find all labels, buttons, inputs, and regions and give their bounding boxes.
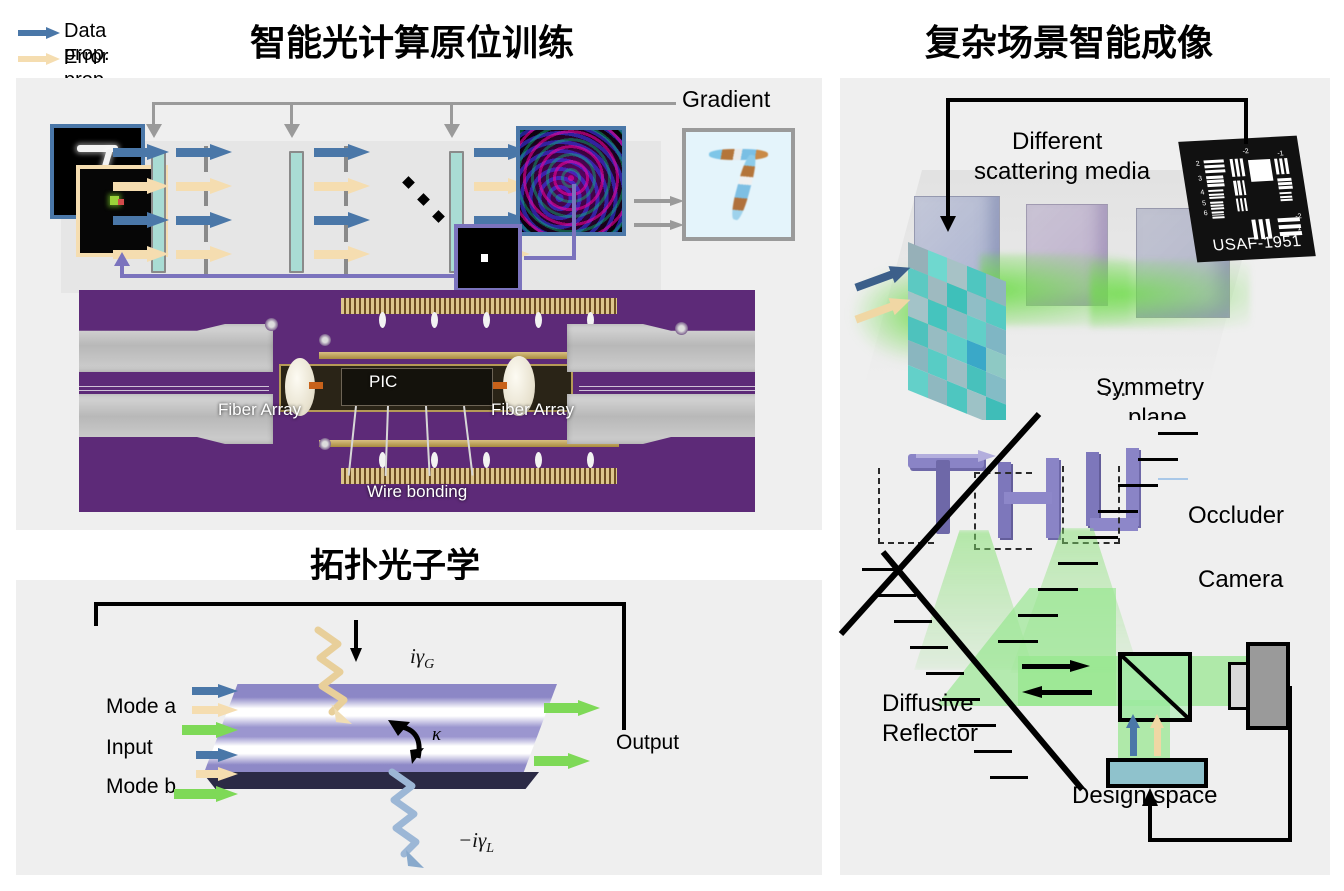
gradient-arrow-1	[146, 124, 162, 138]
error-prop-arrow	[176, 246, 234, 263]
panel-insitu-training: Gradient	[16, 78, 822, 530]
data-prop-arrow	[176, 144, 234, 161]
imaging-feedback-line	[946, 98, 1246, 102]
gain-zigzag-icon	[312, 624, 392, 734]
label-input: Input	[106, 737, 153, 758]
feedback-line-h1	[524, 256, 576, 260]
to-gradient-arrow-1	[634, 196, 686, 206]
occluder-hatch	[1078, 536, 1118, 539]
gradient-bus-line	[152, 102, 676, 105]
reflector-hatch	[910, 646, 948, 649]
usaf-group-number: 5	[1202, 200, 1207, 207]
occluder-hatch	[1018, 614, 1058, 617]
label-diffusive-line1: Diffusive	[882, 692, 974, 716]
usaf-group-number: 6	[1203, 210, 1208, 217]
usaf-1951-target: 2 3 4 5 6 -2 -1 -2 1 USAF-1951	[1178, 136, 1316, 263]
arrow-right-icon	[18, 27, 62, 39]
data-prop-arrow	[113, 212, 171, 229]
occluder-hatch	[998, 640, 1038, 643]
pad-dot	[483, 312, 490, 328]
to-gradient-arrow-2	[634, 220, 686, 230]
label-pic: PIC	[369, 372, 397, 392]
optical-layer-2	[289, 151, 304, 273]
screw-hole	[675, 322, 688, 335]
error-prop-arrow	[192, 703, 240, 717]
usaf-white-square	[1248, 159, 1274, 182]
occluder-hatch	[1038, 588, 1078, 591]
label-coupling-kappa: κ	[432, 724, 441, 746]
label-scattering-line2: scattering media	[974, 160, 1150, 184]
panel-optical-setup: Occluder Camera Diffusive Reflector Desi…	[840, 420, 1330, 875]
reflector-hatch	[894, 620, 932, 623]
label-wire-bonding: Wire bonding	[367, 482, 467, 502]
pad-dot	[431, 312, 438, 328]
optical-signal-arrow	[182, 722, 240, 738]
label-fiber-array-right: Fiber Array	[491, 400, 574, 420]
loss-zigzag-icon	[382, 766, 462, 882]
optical-signal-arrow	[174, 786, 240, 802]
label-camera: Camera	[1198, 568, 1283, 592]
feedback-line-up	[120, 264, 124, 278]
setup-feedback-up	[1148, 804, 1152, 842]
letters-motion-arrow	[916, 450, 1000, 462]
occluder-hatch	[1138, 458, 1178, 461]
gradient-result-image	[682, 128, 795, 241]
screw-hole	[265, 318, 278, 331]
usaf-group-number: 3	[1198, 175, 1203, 182]
label-mode-a: Mode a	[106, 696, 176, 717]
feedback-pattern-image	[454, 224, 522, 292]
usaf-corner-label: 1	[1297, 225, 1302, 232]
panel-topological-photonics: Mode a Input Mode b Output	[16, 580, 822, 875]
error-prop-arrow	[314, 178, 372, 195]
data-prop-arrow	[1126, 714, 1140, 756]
label-design-space: Design space	[1072, 784, 1217, 808]
usaf-corner-label: -1	[1277, 150, 1284, 157]
usaf-bar-group-right	[1274, 158, 1304, 207]
error-prop-arrow	[113, 178, 171, 195]
reflector-hatch	[974, 750, 1012, 753]
data-prop-arrow	[176, 212, 234, 229]
pic-die	[341, 368, 493, 406]
label-gain-coefficient: iγG	[410, 644, 434, 673]
occluder-marker	[1158, 478, 1188, 480]
pad-dot	[535, 452, 542, 468]
gradient-label: Gradient	[682, 88, 770, 111]
fiber-array-block-left-top	[79, 324, 273, 372]
legend: Data prop. Error prop.	[18, 20, 198, 76]
fiber-array-block-right-top	[567, 324, 755, 372]
pad-dot	[431, 452, 438, 468]
error-prop-arrow	[176, 178, 234, 195]
usaf-corner-label: -2	[1295, 213, 1302, 220]
alignment-mark-right	[493, 382, 507, 389]
feedback-line-h2	[120, 274, 458, 278]
pad-dot	[379, 312, 386, 328]
backward-propagation-arrow	[1022, 686, 1092, 698]
feedback-arrow-up	[114, 252, 130, 266]
occluder-hatch	[1058, 562, 1098, 565]
screw-hole	[319, 334, 331, 346]
label-scattering-line1: Different	[1012, 130, 1102, 154]
error-prop-arrow	[314, 246, 372, 263]
reflector-hatch	[926, 672, 964, 675]
output-arrow-top	[544, 700, 602, 716]
beam-splitter-cube	[1118, 652, 1192, 722]
ellipsis-dots: …	[1102, 372, 1128, 403]
usaf-corner-label: -2	[1242, 148, 1249, 155]
gradient-arrow-3	[444, 124, 460, 138]
label-loss-coefficient: −iγL	[458, 828, 494, 857]
feedback-loop-horizontal	[94, 602, 626, 606]
setup-feedback-bottom	[1148, 838, 1292, 842]
data-prop-arrow	[314, 144, 372, 161]
data-prop-arrow	[196, 748, 240, 762]
panel-complex-scene-imaging: 2 3 4 5 6 -2 -1 -2 1 USAF-1951 Different…	[840, 78, 1330, 448]
label-mode-b: Mode b	[106, 776, 176, 797]
usaf-target-label: USAF-1951	[1212, 233, 1303, 255]
data-prop-arrow	[314, 212, 372, 229]
usaf-group-number: 2	[1195, 161, 1200, 168]
occluder-hatch	[1098, 510, 1138, 513]
label-diffusive-line2: Reflector	[882, 722, 978, 746]
feedback-line-v2	[454, 252, 458, 278]
reflector-hatch	[862, 568, 900, 571]
imaging-feedback-arrow	[940, 216, 956, 232]
panel-title-training: 智能光计算原位训练	[250, 14, 574, 66]
feedback-line-v	[572, 184, 576, 260]
setup-feedback-right	[1288, 686, 1292, 842]
green-beam-2	[1090, 260, 1250, 328]
label-fiber-array-left: Fiber Array	[218, 400, 301, 420]
usaf-group-number: 4	[1200, 189, 1205, 196]
label-output: Output	[616, 732, 679, 753]
reflector-hatch	[990, 776, 1028, 779]
pic-chip-photograph: Fiber Array Fiber Array PIC Wire bonding	[79, 290, 755, 512]
pad-dot	[587, 452, 594, 468]
label-occluder: Occluder	[1188, 504, 1284, 528]
pad-dot	[535, 312, 542, 328]
alignment-mark-left	[309, 382, 323, 389]
fiber-array-block-right-bottom	[567, 394, 755, 444]
data-prop-arrow	[113, 144, 171, 161]
reflector-hatch	[878, 594, 916, 597]
output-speckle-image	[516, 126, 626, 236]
output-arrow-bottom	[534, 753, 592, 769]
camera-body	[1246, 642, 1290, 730]
occluder-hatch	[1118, 484, 1158, 487]
data-prop-arrow	[192, 684, 240, 698]
arrow-right-icon	[18, 53, 62, 65]
forward-propagation-arrow	[1022, 660, 1092, 672]
beam-splitter-diagonal	[1122, 656, 1188, 718]
feedback-loop-drop	[94, 602, 98, 626]
pad-dot	[483, 452, 490, 468]
error-prop-arrow	[1150, 714, 1164, 756]
feedback-loop-vertical	[622, 602, 626, 730]
imaging-feedback-left	[946, 98, 950, 220]
gradient-arrow-2	[284, 124, 300, 138]
panel-title-imaging: 复杂场景智能成像	[925, 14, 1213, 66]
screw-hole	[319, 438, 331, 450]
error-prop-arrow	[196, 767, 240, 781]
imaging-feedback-right	[1244, 98, 1248, 144]
occluder-hatch	[1158, 432, 1198, 435]
